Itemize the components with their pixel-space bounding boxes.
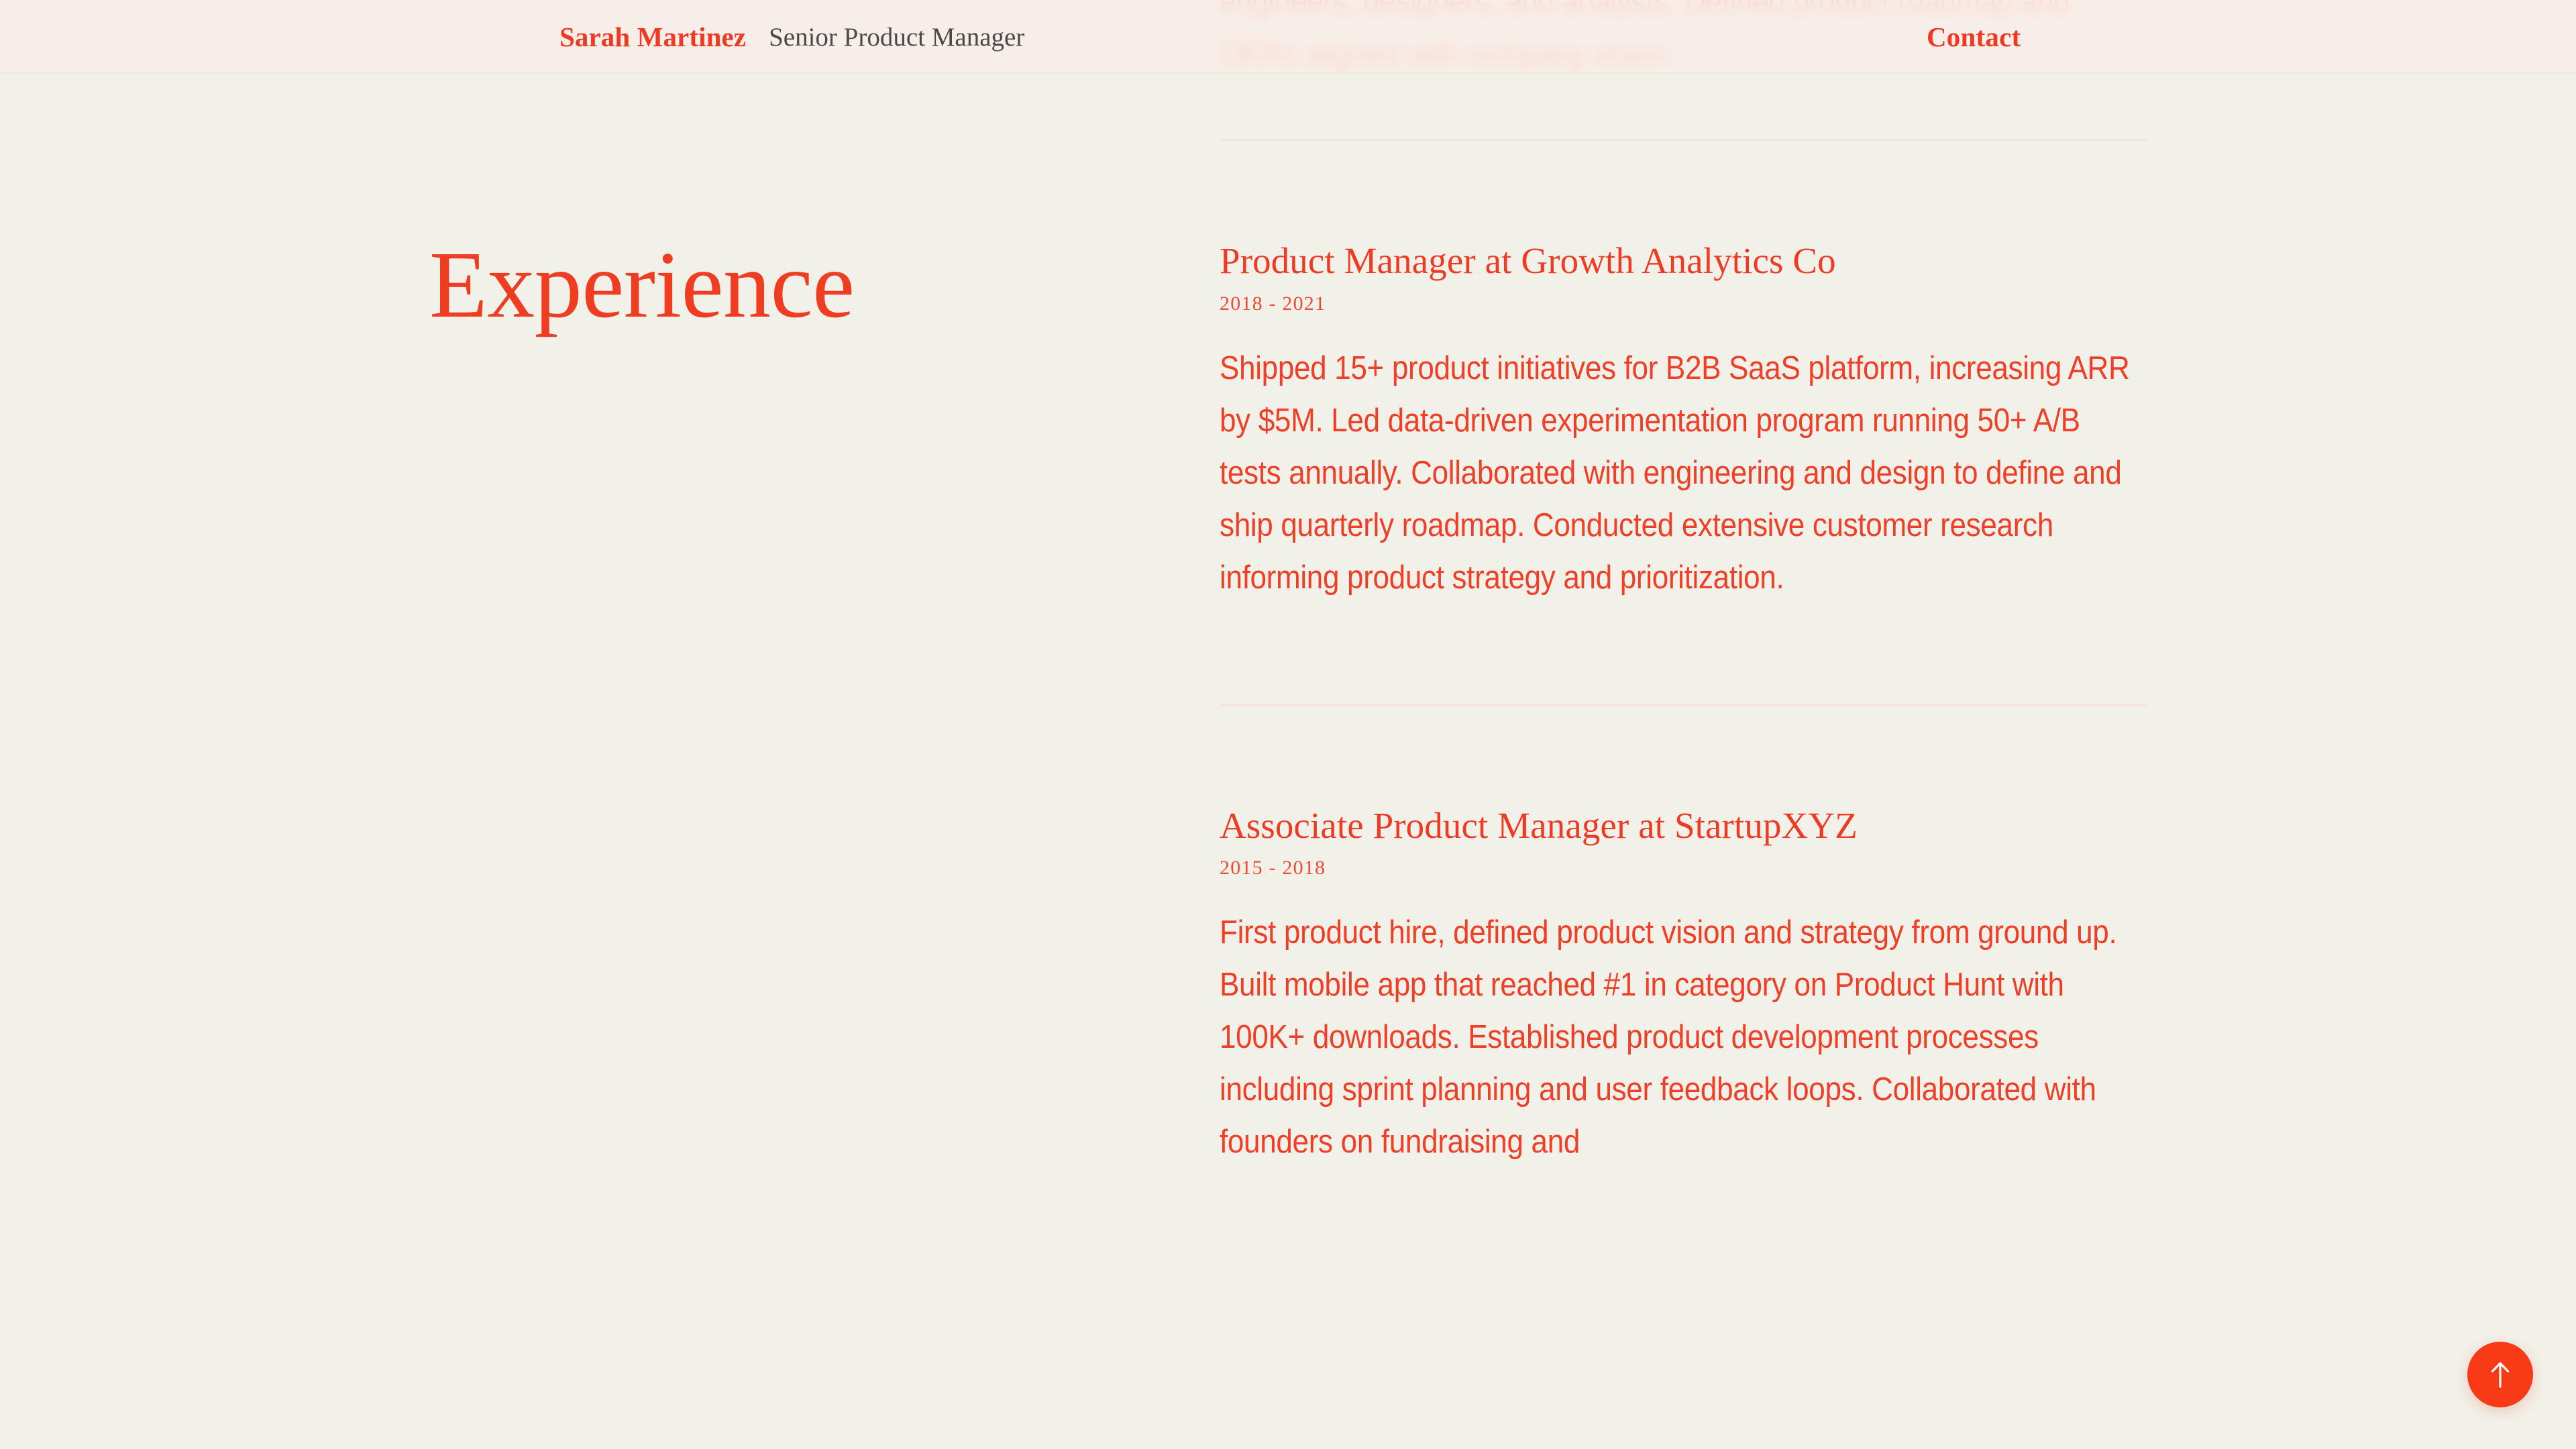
scroll-to-top-button[interactable]: Back to top [2467, 1342, 2533, 1407]
portfolio-page: Sarah Martinez Senior Product Manager Co… [0, 0, 2576, 1449]
experience-entry-dates: 2018 - 2021 [1220, 294, 2147, 314]
brand-group[interactable]: Sarah Martinez Senior Product Manager [559, 0, 1024, 74]
brand-role: Senior Product Manager [769, 24, 1024, 50]
experience-entry-title: Product Manager at Growth Analytics Co [1220, 240, 2147, 282]
site-header: Sarah Martinez Senior Product Manager Co… [0, 0, 2576, 74]
experience-entry-dates: 2015 - 2018 [1220, 858, 2147, 878]
brand-name[interactable]: Sarah Martinez [559, 23, 746, 51]
experience-entry-body: First product hire, defined product visi… [1220, 906, 2146, 1168]
experience-list: engineers, designers, and analysts. Defi… [1220, 0, 2147, 1168]
arrow-up-icon [2487, 1360, 2514, 1389]
nav-link-contact[interactable]: Contact [1927, 0, 2021, 74]
entry-divider [1220, 704, 2147, 706]
experience-entry: Associate Product Manager at StartupXYZ … [1220, 805, 2147, 1169]
experience-entry: Product Manager at Growth Analytics Co 2… [1220, 240, 2147, 604]
page-title: Experience [429, 237, 855, 332]
entry-divider [1220, 140, 2147, 141]
experience-entry-title: Associate Product Manager at StartupXYZ [1220, 805, 2147, 847]
experience-entry-body: Shipped 15+ product initiatives for B2B … [1220, 342, 2146, 604]
